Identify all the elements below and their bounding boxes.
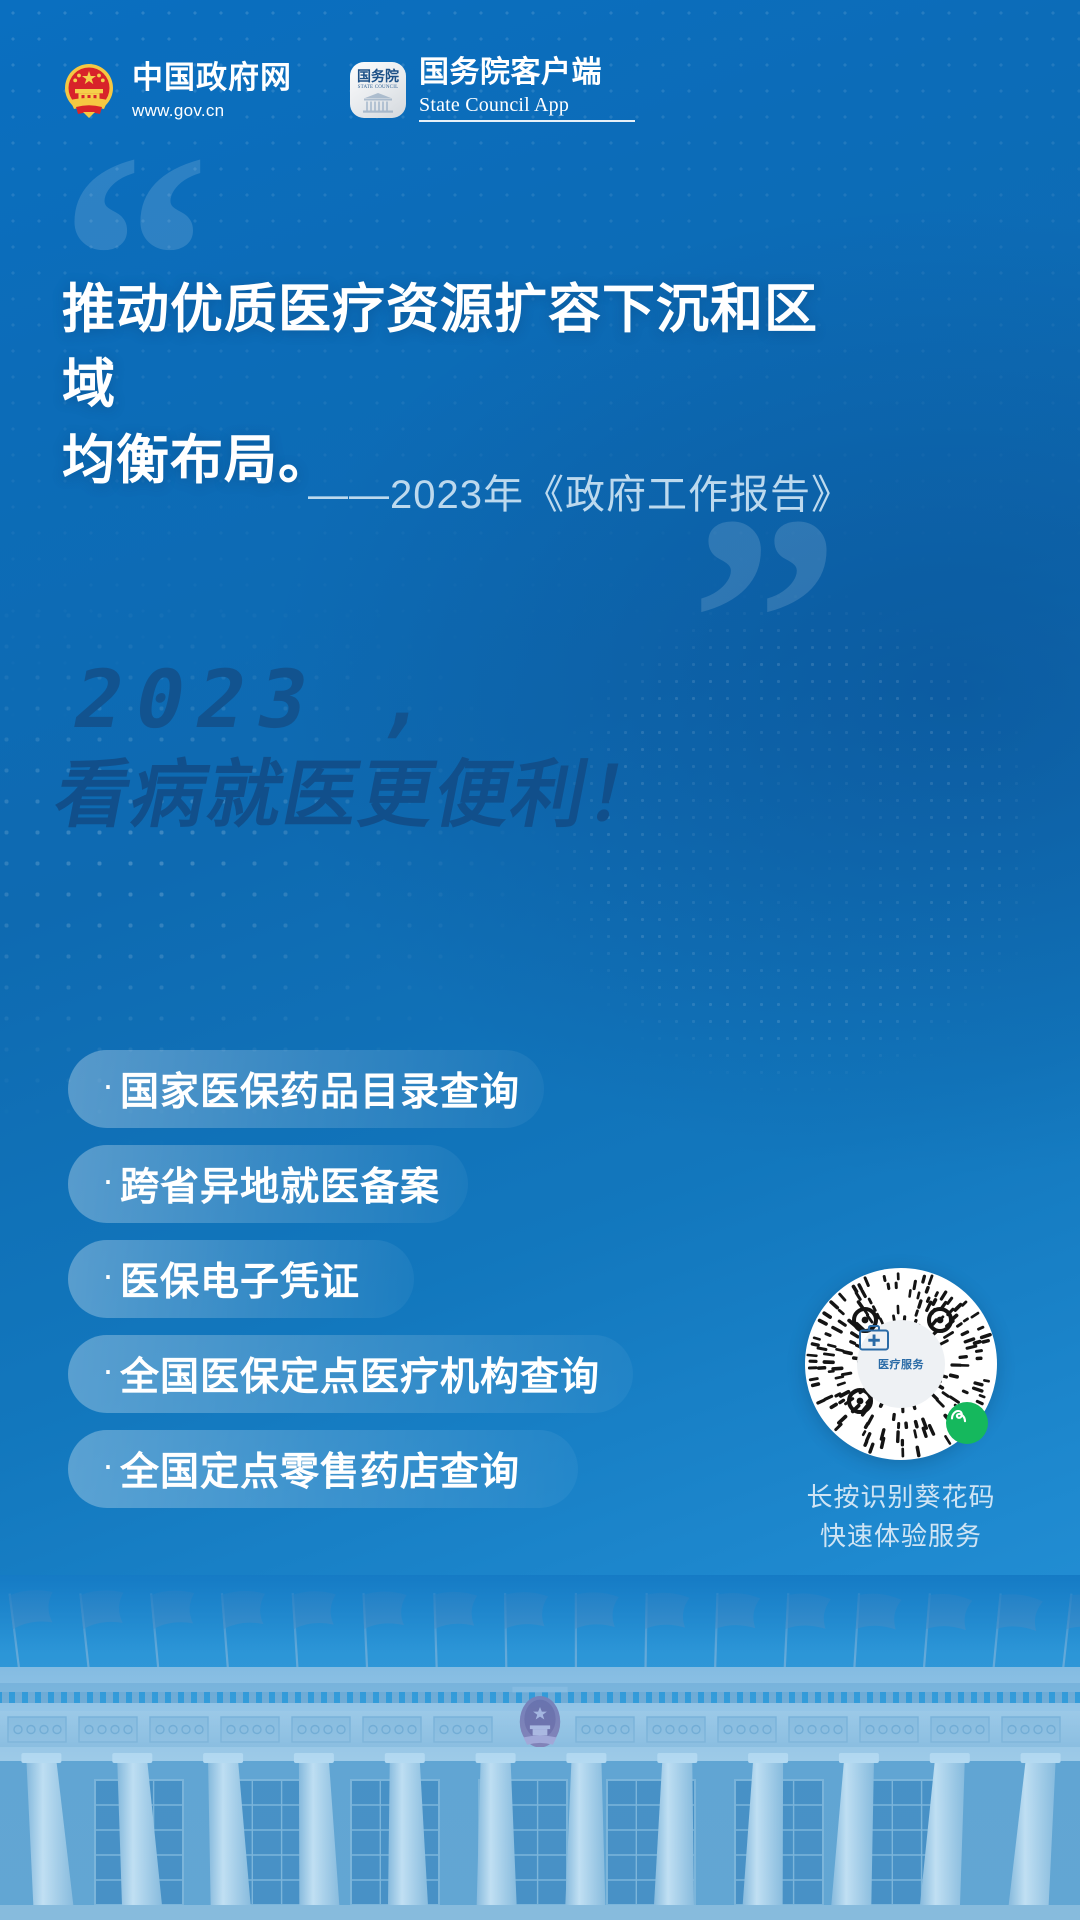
bullet-icon: · [102, 1162, 114, 1198]
service-label: 医保电子凭证 [120, 1251, 360, 1307]
app-brand-name-cn: 国务院客户端 [419, 58, 635, 88]
qr-section: 医疗服务 长按识别葵花码 快速体验服务 [790, 1268, 1012, 1556]
quote-attribution: ——2023年《政府工作报告》 [62, 462, 852, 520]
app-brand-underline [419, 120, 635, 122]
service-label: 全国医保定点医疗机构查询 [120, 1346, 600, 1402]
service-label: 跨省异地就医备案 [120, 1156, 440, 1212]
list-item[interactable]: · 跨省异地就医备案 [68, 1145, 468, 1223]
qr-caption-line-2: 快速体验服务 [790, 1517, 1012, 1556]
qr-caption: 长按识别葵花码 快速体验服务 [790, 1478, 1012, 1556]
state-council-app-icon: 国务院 STATE COUNCIL [350, 62, 406, 118]
great-hall-of-the-people-photo [0, 1575, 1080, 1920]
service-label: 全国定点零售药店查询 [120, 1441, 520, 1497]
gov-brand-name: 中国政府网 [132, 62, 292, 93]
list-item[interactable]: · 全国医保定点医疗机构查询 [68, 1335, 633, 1413]
app-icon-label-en: STATE COUNCIL [358, 85, 399, 90]
qr-center-label: 医疗服务 [878, 1356, 924, 1372]
headline-year: 2023 , [67, 660, 783, 740]
app-icon-label-cn: 国务院 [357, 69, 399, 83]
bullet-icon: · [102, 1352, 114, 1388]
qr-caption-line-1: 长按识别葵花码 [790, 1478, 1012, 1517]
bullet-icon: · [102, 1067, 114, 1103]
building-illustration [0, 1575, 1080, 1920]
headline-main: 看病就医更便利！ [49, 758, 763, 832]
headline-block: 2023 , 看病就医更便利！ [49, 660, 782, 832]
list-item[interactable]: · 全国定点零售药店查询 [68, 1430, 578, 1508]
app-brand-name-en: State Council App [419, 95, 635, 115]
service-list: · 国家医保药品目录查询 · 跨省异地就医备案 · 医保电子凭证 · 全国医保定… [68, 1050, 633, 1525]
bullet-icon: · [102, 1447, 114, 1483]
bullet-icon: · [102, 1257, 114, 1293]
list-item[interactable]: · 国家医保药品目录查询 [68, 1050, 544, 1128]
wechat-miniprogram-icon [946, 1402, 988, 1444]
app-brand[interactable]: 国务院 STATE COUNCIL 国务 [350, 58, 635, 122]
qr-center-logo: 医疗服务 [857, 1320, 945, 1408]
quote-line-1: 推动优质医疗资源扩容下沉和区域 [62, 272, 852, 423]
service-label: 国家医保药品目录查询 [120, 1061, 520, 1117]
list-item[interactable]: · 医保电子凭证 [68, 1240, 414, 1318]
wechat-sunflower-qr-code[interactable]: 医疗服务 [805, 1268, 997, 1460]
hall-glyph-icon [358, 92, 398, 118]
poster-root: 中国政府网 www.gov.cn 国务院 STATE COUNCIL [0, 0, 1080, 1920]
